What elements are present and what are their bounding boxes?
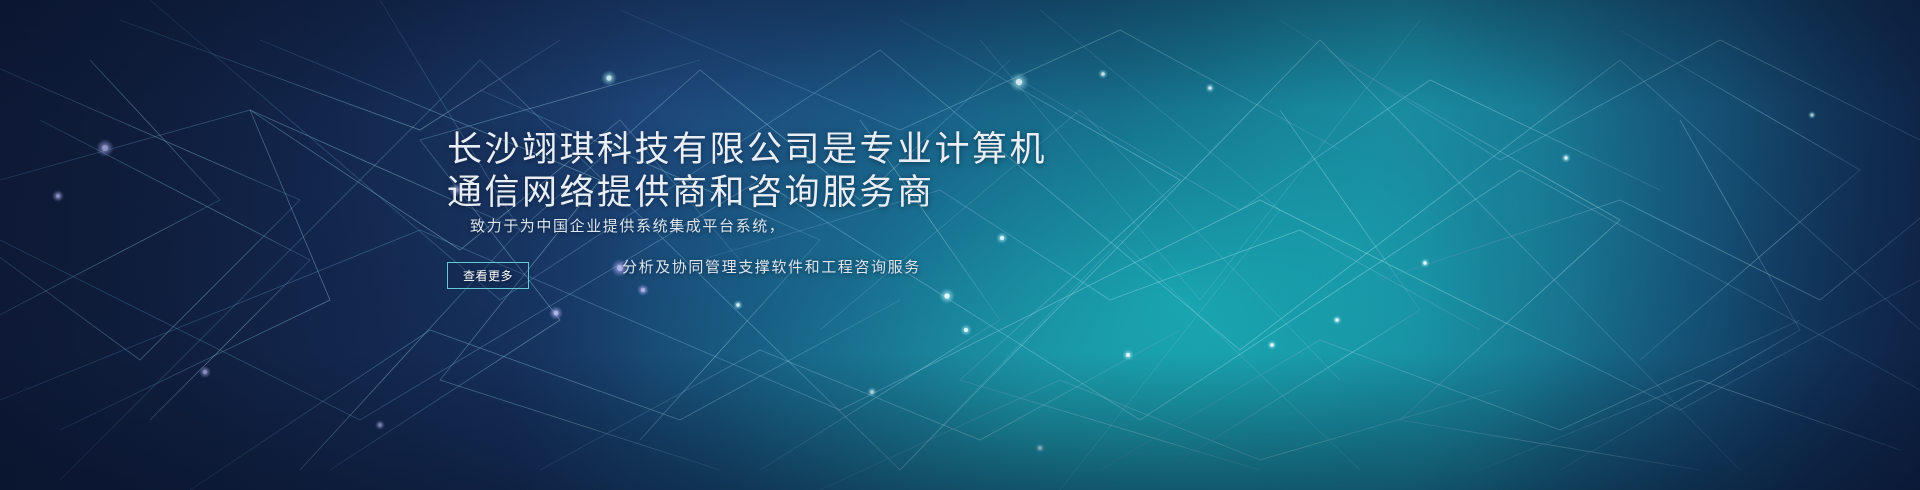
- hero-banner: 长沙翊琪科技有限公司是专业计算机 通信网络提供商和咨询服务商 致力于为中国企业提…: [0, 0, 1920, 490]
- hero-headline: 长沙翊琪科技有限公司是专业计算机 通信网络提供商和咨询服务商: [447, 128, 1047, 214]
- headline-line-2: 通信网络提供商和咨询服务商: [447, 171, 1047, 214]
- hero-content: 长沙翊琪科技有限公司是专业计算机 通信网络提供商和咨询服务商 致力于为中国企业提…: [0, 0, 1920, 490]
- hero-subtitle-line-1: 致力于为中国企业提供系统集成平台系统，: [470, 215, 785, 236]
- hero-subtitle-line-2: 分析及协同管理支撑软件和工程咨询服务: [622, 256, 921, 277]
- view-more-button[interactable]: 查看更多: [447, 262, 529, 289]
- headline-line-1: 长沙翊琪科技有限公司是专业计算机: [447, 130, 1047, 169]
